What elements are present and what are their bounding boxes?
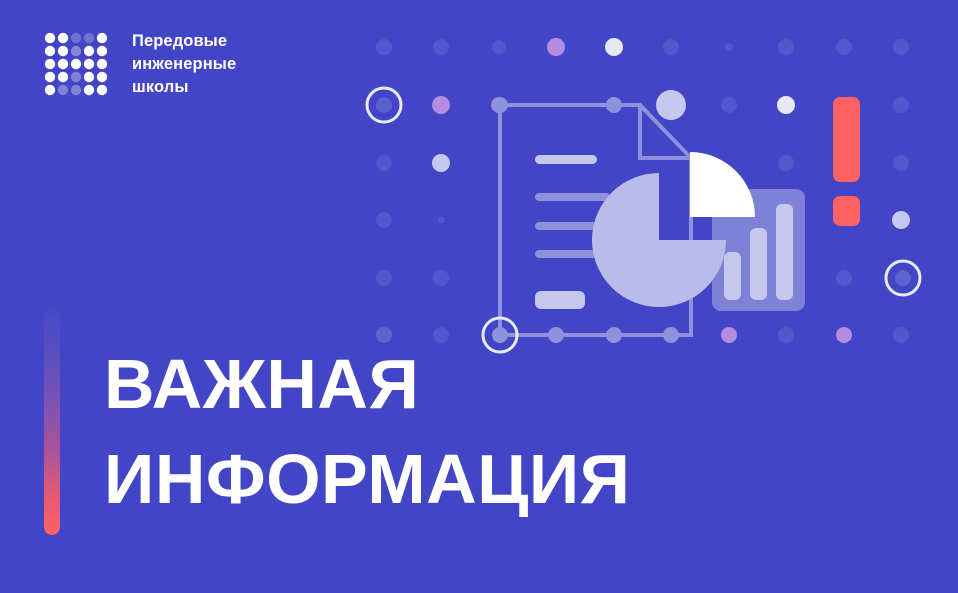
bar-chart-bar-1 — [724, 252, 741, 300]
brand-logo: Передовые инженерные школы — [44, 30, 236, 98]
document-text-line — [535, 155, 597, 164]
document-text-line — [535, 193, 610, 201]
exclamation-dot — [833, 196, 860, 226]
headline-block: ВАЖНАЯ ИНФОРМАЦИЯ — [44, 307, 630, 535]
pie-chart-highlight-slice — [690, 152, 755, 217]
exclamation-stem — [833, 97, 860, 182]
exclamation-mark — [833, 97, 860, 226]
gradient-accent-bar — [44, 307, 60, 535]
ring-top-left-icon — [367, 88, 401, 122]
bar-chart-bar-3 — [776, 204, 793, 300]
ring-bottom-right-icon — [886, 261, 920, 295]
node-dot — [492, 97, 508, 113]
dot-matrix-logo-icon — [44, 32, 108, 96]
document-text-line — [535, 250, 603, 258]
bar-chart-bar-2 — [750, 228, 767, 300]
node-dot — [663, 327, 679, 343]
page-title: ВАЖНАЯ ИНФОРМАЦИЯ — [104, 337, 630, 527]
node-dot — [606, 97, 622, 113]
brand-logo-text: Передовые инженерные школы — [132, 30, 236, 98]
poster-canvas: Передовые инженерные школы ВАЖНАЯ ИНФОРМ… — [0, 0, 958, 593]
